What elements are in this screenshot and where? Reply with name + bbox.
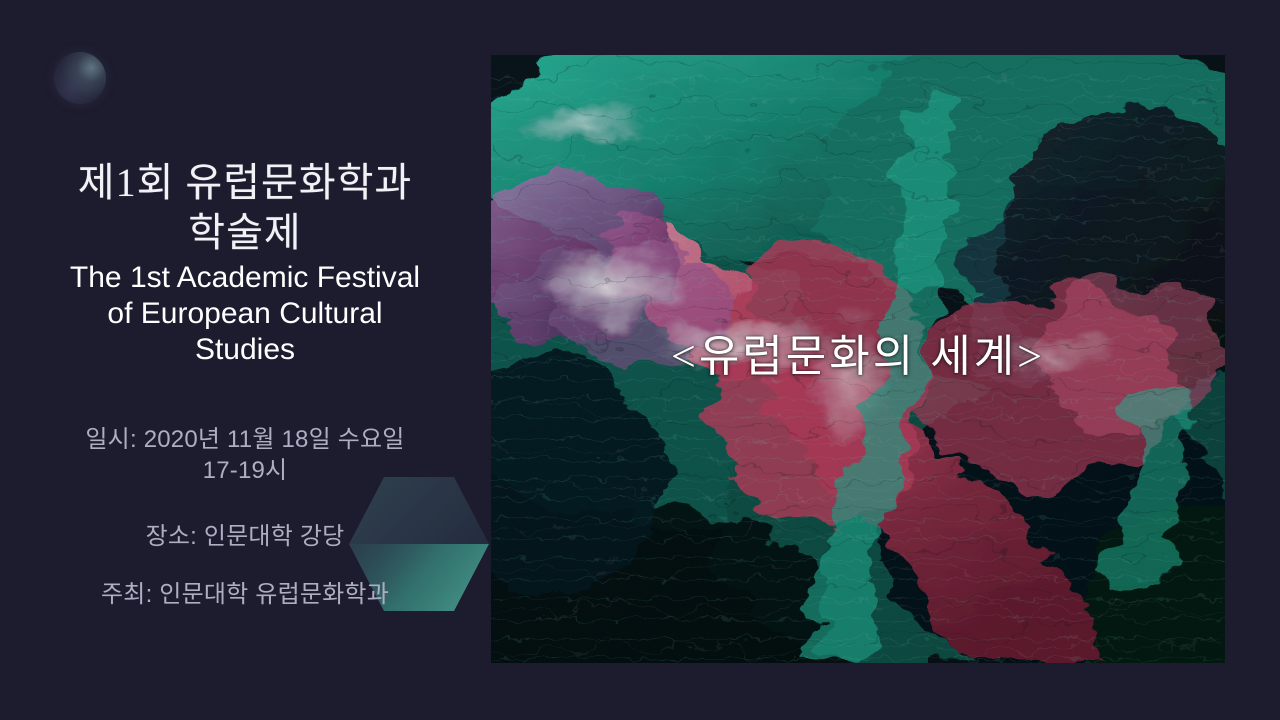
event-venue: 장소: 인문대학 강당: [28, 521, 462, 552]
title-english-line-2: of European Cultural: [28, 297, 462, 330]
event-datetime-line-2: 17-19시: [28, 455, 462, 486]
slide-title: 제1회 유럽문화학과 학술제 The 1st Academic Festival…: [28, 158, 462, 366]
event-datetime-line-1: 일시: 2020년 11월 18일 수요일: [28, 424, 462, 455]
event-details: 일시: 2020년 11월 18일 수요일 17-19시 장소: 인문대학 강당…: [28, 424, 462, 610]
left-content-column: 제1회 유럽문화학과 학술제 The 1st Academic Festival…: [0, 0, 490, 720]
event-host: 주최: 인문대학 유럽문화학과: [28, 579, 462, 610]
title-korean-line-1: 제1회 유럽문화학과: [28, 158, 462, 208]
title-english-line-3: Studies: [28, 333, 462, 366]
artwork-caption: <유럽문화의 세계>: [491, 332, 1225, 382]
presentation-slide: 제1회 유럽문화학과 학술제 The 1st Academic Festival…: [0, 0, 1280, 720]
title-english-line-1: The 1st Academic Festival: [28, 261, 462, 294]
title-korean-line-2: 학술제: [28, 208, 462, 258]
